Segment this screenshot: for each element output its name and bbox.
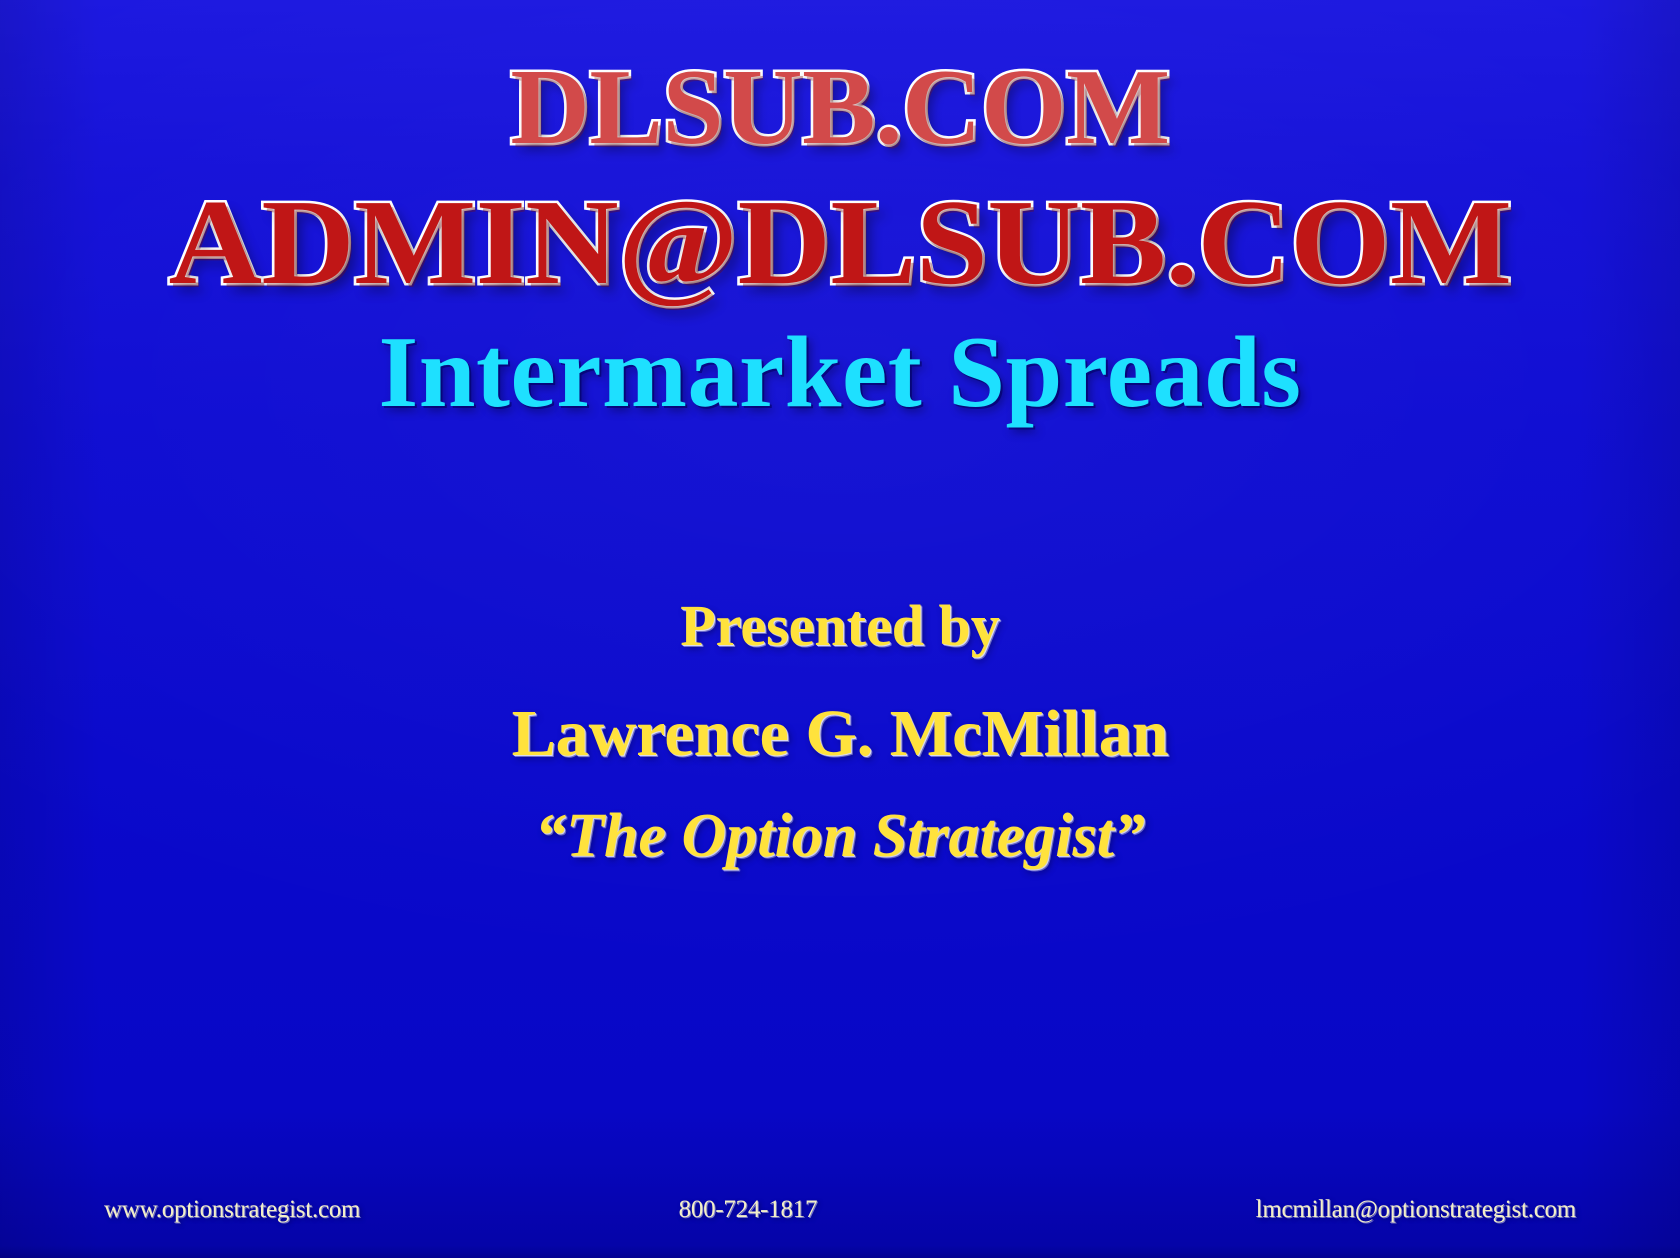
presented-by-label: Presented by	[0, 596, 1680, 657]
presenter-block: Presented by Lawrence G. McMillan “The O…	[0, 596, 1680, 869]
slide-title: Intermarket Spreads	[0, 318, 1680, 428]
slide-footer: www.optionstrategist.com 800-724-1817 lm…	[0, 1190, 1680, 1230]
footer-website: www.optionstrategist.com	[104, 1196, 360, 1224]
presenter-name: Lawrence G. McMillan	[0, 699, 1680, 768]
watermark-admin-email: ADMIN@DLSUB.COM	[0, 182, 1680, 304]
presenter-tagline: “The Option Strategist”	[0, 804, 1680, 869]
footer-phone: 800-724-1817	[360, 1196, 1255, 1224]
footer-email: lmcmillan@optionstrategist.com	[1256, 1196, 1576, 1224]
presentation-slide: DLSUB.COM ADMIN@DLSUB.COM Intermarket Sp…	[0, 0, 1680, 1258]
watermark-site-url: DLSUB.COM	[0, 54, 1680, 162]
